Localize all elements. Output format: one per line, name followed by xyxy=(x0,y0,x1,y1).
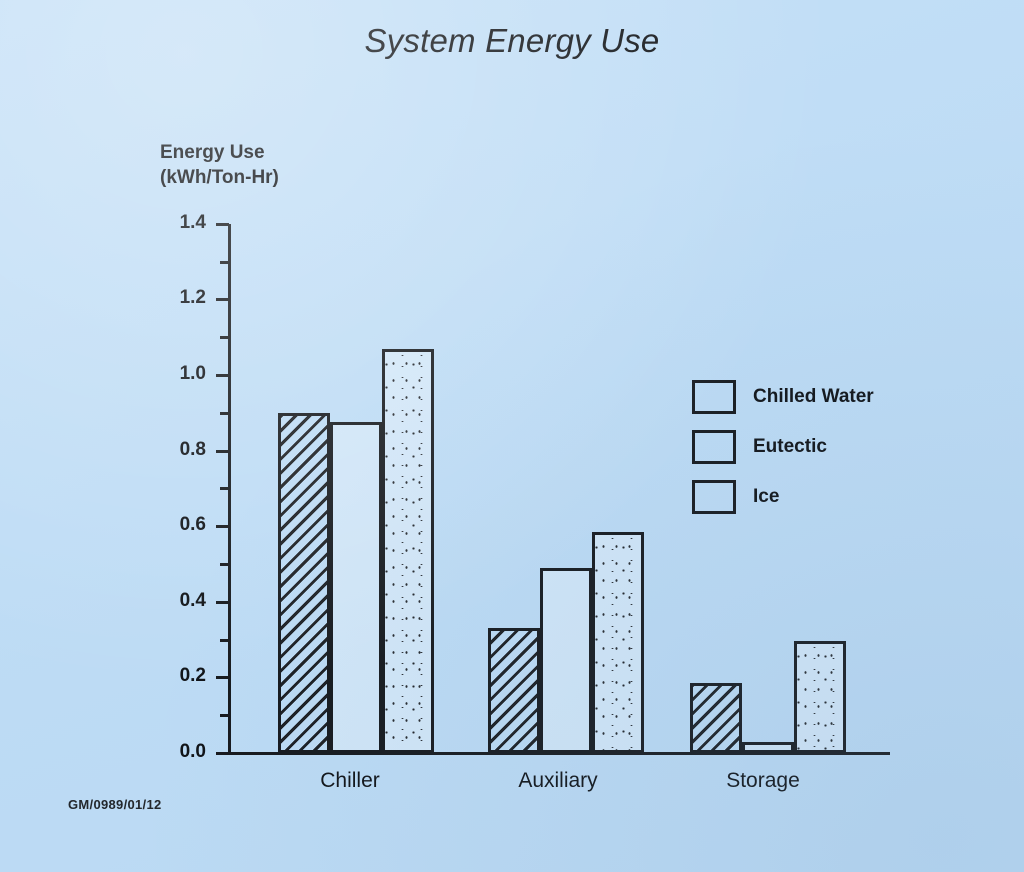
x-axis-category-label: Auxiliary xyxy=(458,769,658,793)
x-axis-category-label: Storage xyxy=(663,769,863,793)
y-axis-minor-tick xyxy=(220,487,229,490)
slide-canvas: System Energy Use Energy Use (kWh/Ton-Hr… xyxy=(0,0,1024,872)
y-axis-major-tick xyxy=(216,223,229,226)
bar-storage-chilled-water xyxy=(690,683,742,753)
y-axis-major-tick xyxy=(216,676,229,679)
document-code: GM/0989/01/12 xyxy=(68,797,162,812)
y-axis-tick-label: 0.0 xyxy=(150,741,206,763)
y-axis-tick-label: 0.4 xyxy=(150,590,206,612)
bar-auxiliary-ice xyxy=(592,532,644,753)
y-axis-minor-tick xyxy=(220,412,229,415)
bar-storage-eutectic xyxy=(742,742,794,753)
y-axis-major-tick xyxy=(216,450,229,453)
y-axis-major-tick xyxy=(216,374,229,377)
empty-swatch xyxy=(692,430,736,464)
y-axis-minor-tick xyxy=(220,336,229,339)
legend-item-label: Ice xyxy=(753,486,779,508)
y-axis-tick-label: 1.0 xyxy=(150,363,206,385)
y-axis-tick-label: 1.4 xyxy=(150,212,206,234)
legend-item-eutectic: Eutectic xyxy=(692,422,874,472)
y-axis-major-tick xyxy=(216,752,229,755)
bar-chiller-eutectic xyxy=(330,422,382,753)
diagonal-hatch-swatch xyxy=(692,380,736,414)
chart-legend: Chilled WaterEutecticIce xyxy=(692,372,874,522)
legend-item-chilled-water: Chilled Water xyxy=(692,372,874,422)
y-axis-minor-tick xyxy=(220,563,229,566)
y-axis-minor-tick xyxy=(220,639,229,642)
y-axis-major-tick xyxy=(216,525,229,528)
y-axis-tick-label: 0.6 xyxy=(150,514,206,536)
stipple-swatch xyxy=(692,480,736,514)
bar-auxiliary-eutectic xyxy=(540,568,592,753)
x-axis-category-label: Chiller xyxy=(250,769,450,793)
legend-item-label: Eutectic xyxy=(753,436,827,458)
y-axis-major-tick xyxy=(216,298,229,301)
y-axis-minor-tick xyxy=(220,261,229,264)
legend-item-ice: Ice xyxy=(692,472,874,522)
y-axis-tick-label: 1.2 xyxy=(150,287,206,309)
y-axis-tick-label: 0.2 xyxy=(150,665,206,687)
y-axis-minor-tick xyxy=(220,714,229,717)
bar-chiller-chilled-water xyxy=(278,413,330,753)
y-axis-tick-label: 0.8 xyxy=(150,439,206,461)
y-axis-major-tick xyxy=(216,601,229,604)
bar-auxiliary-chilled-water xyxy=(488,628,540,753)
bar-chiller-ice xyxy=(382,349,434,753)
legend-item-label: Chilled Water xyxy=(753,386,874,408)
bar-storage-ice xyxy=(794,641,846,753)
